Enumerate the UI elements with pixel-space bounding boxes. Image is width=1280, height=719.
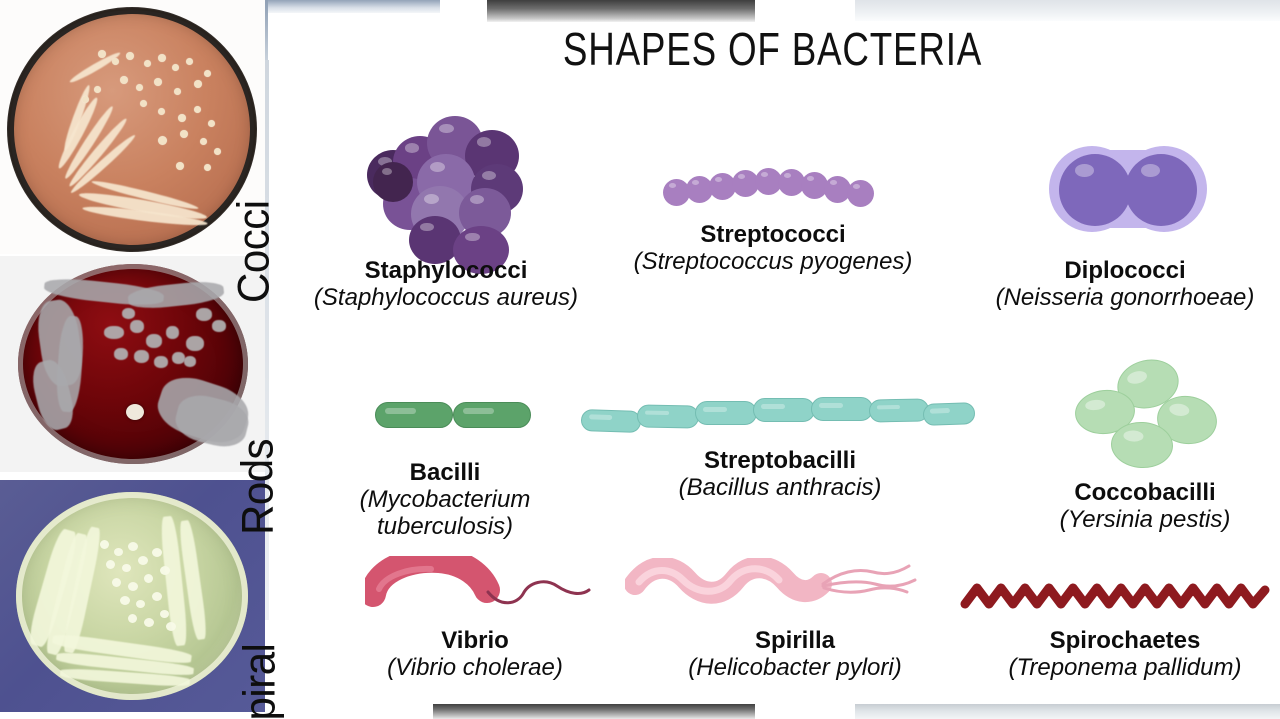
bacteria-species: (Staphylococcus aureus) xyxy=(301,285,591,312)
caption-staphylococci: Staphylococci (Staphylococcus aureus) xyxy=(301,258,591,312)
colony xyxy=(154,78,162,86)
decorative-band xyxy=(433,704,755,719)
colony xyxy=(196,308,212,321)
row-label-spiral: Spiral xyxy=(234,644,285,719)
colony xyxy=(160,610,169,618)
colony xyxy=(140,100,147,107)
chocolate-agar-photo xyxy=(0,0,265,254)
colony xyxy=(144,60,151,67)
colony xyxy=(128,582,138,591)
colony xyxy=(94,86,101,93)
bacteria-species: (Streptococcus pyogenes) xyxy=(623,249,923,276)
colony xyxy=(130,320,144,333)
colony xyxy=(204,164,211,171)
colony xyxy=(134,350,149,363)
bacteria-name: Staphylococci xyxy=(301,258,591,285)
colony xyxy=(82,96,89,103)
colony xyxy=(186,58,193,65)
bacteria-species: (Vibrio cholerae) xyxy=(325,655,625,682)
decorative-band xyxy=(265,60,269,620)
spirochaetes-svg xyxy=(959,578,1280,618)
colony xyxy=(158,136,167,145)
bacteria-species: (Yersinia pestis) xyxy=(985,507,1280,534)
colony xyxy=(166,622,176,631)
colony xyxy=(114,548,123,556)
coccobacilli-illustration xyxy=(1075,360,1235,480)
caption-spirochaetes: Spirochaetes (Treponema pallidum) xyxy=(965,628,1280,682)
colony xyxy=(112,58,119,65)
colony xyxy=(112,578,121,587)
colony xyxy=(184,356,196,367)
colony xyxy=(214,148,221,155)
row-label-cocci: Cocci xyxy=(228,200,279,303)
antibiotic-disk xyxy=(126,404,144,420)
agar-plate-photo-column xyxy=(0,0,265,719)
caption-streptococci: Streptococci (Streptococcus pyogenes) xyxy=(623,222,923,276)
colony xyxy=(104,326,124,339)
colony xyxy=(146,334,162,348)
caption-coccobacilli: Coccobacilli (Yersinia pestis) xyxy=(985,480,1280,534)
bacteria-name: Vibrio xyxy=(325,628,625,655)
colony xyxy=(176,162,184,170)
colony xyxy=(152,548,162,557)
staphylococci-illustration xyxy=(353,110,523,262)
caption-diplococci: Diplococci (Neisseria gonorrhoeae) xyxy=(965,258,1280,312)
row-label-rods: Rods xyxy=(232,439,283,535)
caption-vibrio: Vibrio (Vibrio cholerae) xyxy=(325,628,625,682)
chocolate-agar-plate xyxy=(8,8,256,251)
colony xyxy=(160,566,170,575)
spirochaetes-illustration xyxy=(959,578,1280,618)
bacteria-name: Bacilli xyxy=(295,460,595,487)
slide-screenshot: SHAPES OF BACTERIA Cocci Rods Spiral Sta… xyxy=(0,0,1280,719)
colony xyxy=(128,542,138,551)
bacteria-name: Spirilla xyxy=(645,628,945,655)
bacteria-name: Coccobacilli xyxy=(985,480,1280,507)
colony xyxy=(158,108,165,115)
colony xyxy=(128,614,137,623)
colony xyxy=(208,120,215,127)
bacilli-illustration xyxy=(375,400,531,430)
colony xyxy=(144,618,154,627)
decorative-band xyxy=(855,704,1280,719)
colony xyxy=(194,80,202,88)
bacteria-name: Streptobacilli xyxy=(625,448,935,475)
colony xyxy=(158,54,166,62)
page-title: SHAPES OF BACTERIA xyxy=(367,22,1179,76)
colony xyxy=(200,138,207,145)
bacteria-name: Streptococci xyxy=(623,222,923,249)
colony xyxy=(186,336,204,351)
colony xyxy=(114,348,128,360)
colony xyxy=(98,50,106,58)
colony xyxy=(144,574,153,583)
colony xyxy=(122,564,131,572)
cled-agar-photo xyxy=(0,474,265,719)
decorative-band xyxy=(268,0,440,13)
caption-spirilla: Spirilla (Helicobacter pylori) xyxy=(645,628,945,682)
caption-bacilli: Bacilli (Mycobacterium tuberculosis) xyxy=(295,460,595,541)
colony xyxy=(120,76,128,84)
streptococci-illustration xyxy=(663,164,883,210)
streptobacilli-illustration xyxy=(581,392,975,428)
colony xyxy=(122,308,135,319)
colony xyxy=(172,64,179,71)
blood-agar-plate xyxy=(18,264,248,464)
colony xyxy=(212,320,226,332)
streak-line xyxy=(127,279,225,311)
colony xyxy=(136,600,145,608)
colony xyxy=(194,106,201,113)
bacteria-name: Diplococci xyxy=(965,258,1280,285)
bacteria-name: Spirochaetes xyxy=(965,628,1280,655)
vibrio-illustration xyxy=(365,556,615,618)
colony xyxy=(178,114,186,122)
colony xyxy=(152,592,162,601)
bacteria-species: (Neisseria gonorrhoeae) xyxy=(965,285,1280,312)
blood-agar-photo xyxy=(0,256,265,472)
bacteria-species: (Mycobacterium tuberculosis) xyxy=(315,487,575,541)
colony xyxy=(154,356,168,368)
colony xyxy=(136,84,143,91)
colony xyxy=(166,326,179,339)
colony xyxy=(100,540,109,549)
spirilla-illustration xyxy=(625,558,925,618)
colony xyxy=(180,130,188,138)
bacteria-species: (Helicobacter pylori) xyxy=(645,655,945,682)
caption-streptobacilli: Streptobacilli (Bacillus anthracis) xyxy=(625,448,935,502)
diplococci-illustration xyxy=(1055,150,1201,230)
colony xyxy=(138,556,148,565)
decorative-band xyxy=(855,0,1280,21)
bacteria-shapes-slide: SHAPES OF BACTERIA Cocci Rods Spiral Sta… xyxy=(265,0,1280,719)
colony xyxy=(120,596,130,605)
bacteria-species: (Treponema pallidum) xyxy=(965,655,1280,682)
colony xyxy=(126,52,134,60)
spirilla-svg xyxy=(625,558,925,618)
colony xyxy=(204,70,211,77)
bacteria-species: (Bacillus anthracis) xyxy=(625,475,935,502)
decorative-band xyxy=(487,0,755,22)
colony xyxy=(174,88,181,95)
cled-agar-plate xyxy=(16,492,248,700)
vibrio-svg xyxy=(365,556,615,618)
colony xyxy=(106,560,115,569)
